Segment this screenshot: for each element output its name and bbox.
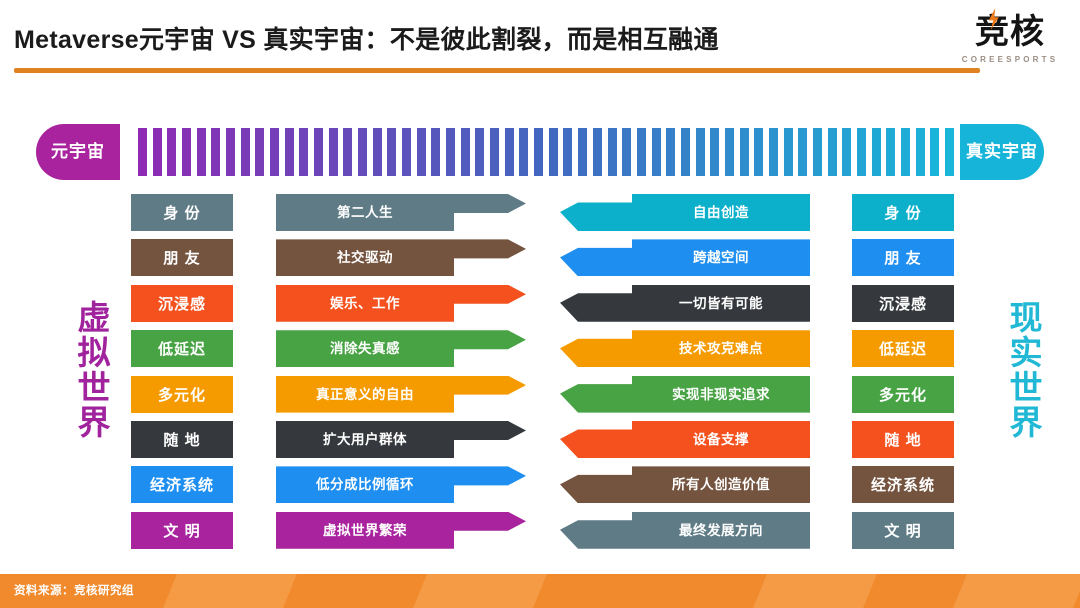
right-arrow-label: 一切皆有可能 (632, 285, 810, 322)
right-arrow-label: 最终发展方向 (632, 512, 810, 549)
right-arrow-label: 跨越空间 (632, 239, 810, 276)
spectrum-stripe (255, 128, 270, 176)
spectrum-stripe (666, 128, 681, 176)
spectrum-stripe (652, 128, 667, 176)
spectrum-stripe (769, 128, 784, 176)
right-attribute-tag[interactable]: 低延迟 (852, 330, 954, 367)
stripe-fill (872, 128, 881, 176)
spectrum-stripe (138, 128, 153, 176)
left-attribute-tag[interactable]: 随 地 (131, 421, 233, 458)
row-arrows: 扩大用户群体设备支撑 (276, 421, 810, 458)
left-attribute-tag[interactable]: 多元化 (131, 376, 233, 413)
stripe-fill (754, 128, 763, 176)
stripe-fill (314, 128, 323, 176)
stripe-fill (608, 128, 617, 176)
spectrum-stripe (578, 128, 593, 176)
left-arrow[interactable]: 扩大用户群体 (276, 421, 526, 458)
stripe-fill (402, 128, 411, 176)
stripe-fill (182, 128, 191, 176)
comparison-row: 朋 友社交驱动跨越空间朋 友 (0, 239, 1080, 276)
stripe-fill (945, 128, 954, 176)
spectrum-stripe (431, 128, 446, 176)
stripe-fill (519, 128, 528, 176)
right-attribute-tag[interactable]: 经济系统 (852, 466, 954, 503)
left-arrow-label: 虚拟世界繁荣 (276, 512, 454, 549)
spectrum-stripe (930, 128, 945, 176)
stripe-fill (842, 128, 851, 176)
spectrum-stripe (285, 128, 300, 176)
right-attribute-label: 身 份 (884, 202, 921, 223)
stripe-fill (901, 128, 910, 176)
spectrum-stripe (637, 128, 652, 176)
left-arrow[interactable]: 社交驱动 (276, 239, 526, 276)
cap-line: 宇宙 (1002, 142, 1038, 162)
stripe-fill (622, 128, 631, 176)
left-arrow-label: 低分成比例循环 (276, 466, 454, 503)
stripe-fill (299, 128, 308, 176)
row-arrows: 社交驱动跨越空间 (276, 239, 810, 276)
stripe-fill (343, 128, 352, 176)
spectrum-stripe (373, 128, 388, 176)
right-attribute-label: 多元化 (879, 384, 927, 405)
right-arrow[interactable]: 自由创造 (560, 194, 810, 231)
logo-wordmark: 竞核 (954, 10, 1066, 54)
right-arrow-label: 设备支撑 (632, 421, 810, 458)
cap-line: 真实 (966, 142, 1002, 162)
right-attribute-label: 随 地 (884, 429, 921, 450)
left-attribute-tag[interactable]: 文 明 (131, 512, 233, 549)
stripe-fill (417, 128, 426, 176)
stripe-fill (431, 128, 440, 176)
spectrum-stripe (622, 128, 637, 176)
left-arrow[interactable]: 消除失真感 (276, 330, 526, 367)
spectrum-bar: 元宇宙 真实宇宙 (0, 124, 1080, 180)
row-arrows: 消除失真感技术攻克难点 (276, 330, 810, 367)
right-arrow[interactable]: 设备支撑 (560, 421, 810, 458)
spectrum-stripe (608, 128, 623, 176)
right-attribute-tag[interactable]: 随 地 (852, 421, 954, 458)
stripe-fill (549, 128, 558, 176)
comparison-row: 多元化真正意义的自由实现非现实追求多元化 (0, 376, 1080, 413)
spectrum-stripe (534, 128, 549, 176)
spectrum-stripe (505, 128, 520, 176)
left-attribute-tag[interactable]: 经济系统 (131, 466, 233, 503)
right-arrow[interactable]: 技术攻克难点 (560, 330, 810, 367)
right-arrow-label: 自由创造 (632, 194, 810, 231)
stripe-fill (886, 128, 895, 176)
spectrum-stripe (241, 128, 256, 176)
spectrum-stripe (343, 128, 358, 176)
spectrum-stripe (916, 128, 931, 176)
spectrum-stripe (519, 128, 534, 176)
right-arrow-label: 技术攻克难点 (632, 330, 810, 367)
right-attribute-tag[interactable]: 沉浸感 (852, 285, 954, 322)
spectrum-stripe (945, 128, 960, 176)
right-attribute-tag[interactable]: 朋 友 (852, 239, 954, 276)
spectrum-stripe (857, 128, 872, 176)
spectrum-stripe (182, 128, 197, 176)
left-arrow-label: 扩大用户群体 (276, 421, 454, 458)
stripe-fill (593, 128, 602, 176)
row-arrows: 第二人生自由创造 (276, 194, 810, 231)
spectrum-stripe (725, 128, 740, 176)
stripe-fill (637, 128, 646, 176)
spectrum-stripe (681, 128, 696, 176)
spectrum-stripe (197, 128, 212, 176)
spectrum-stripe (593, 128, 608, 176)
footer-source-note: 资料来源：竞核研究组 (14, 574, 134, 608)
brand-logo: 竞核 COREESPORTS (954, 8, 1066, 74)
comparison-row: 沉浸感娱乐、工作一切皆有可能沉浸感 (0, 285, 1080, 322)
left-arrow-label: 娱乐、工作 (276, 285, 454, 322)
spectrum-stripe (549, 128, 564, 176)
spectrum-stripe (167, 128, 182, 176)
row-arrows: 娱乐、工作一切皆有可能 (276, 285, 810, 322)
comparison-row: 身 份第二人生自由创造身 份 (0, 194, 1080, 231)
spectrum-cap-real-universe: 真实宇宙 (960, 124, 1044, 180)
page-header: Metaverse元宇宙 VS 真实宇宙：不是彼此割裂，而是相互融通 竞核 CO… (0, 0, 1080, 80)
spectrum-stripe (299, 128, 314, 176)
left-arrow-label: 第二人生 (276, 194, 454, 231)
stripe-fill (666, 128, 675, 176)
stripe-fill (710, 128, 719, 176)
spectrum-stripe (387, 128, 402, 176)
stripe-fill (813, 128, 822, 176)
spectrum-stripe (828, 128, 843, 176)
stripe-fill (828, 128, 837, 176)
stripe-fill (255, 128, 264, 176)
right-attribute-label: 朋 友 (884, 247, 921, 268)
left-attribute-label: 随 地 (163, 429, 200, 450)
right-arrow[interactable]: 最终发展方向 (560, 512, 810, 549)
left-attribute-label: 经济系统 (150, 474, 214, 495)
left-attribute-tag[interactable]: 沉浸感 (131, 285, 233, 322)
right-attribute-label: 经济系统 (871, 474, 935, 495)
spectrum-stripe (872, 128, 887, 176)
footer-diagonal-band (159, 574, 301, 608)
footer-diagonal-band (409, 574, 551, 608)
spectrum-stripe (710, 128, 725, 176)
stripe-fill (226, 128, 235, 176)
stripe-fill (241, 128, 250, 176)
stripe-fill (563, 128, 572, 176)
row-arrows: 低分成比例循环所有人创造价值 (276, 466, 810, 503)
comparison-row: 经济系统低分成比例循环所有人创造价值经济系统 (0, 466, 1080, 503)
row-arrows: 真正意义的自由实现非现实追求 (276, 376, 810, 413)
page-footer: 资料来源：竞核研究组 (0, 574, 1080, 608)
spectrum-stripe (153, 128, 168, 176)
right-arrow[interactable]: 一切皆有可能 (560, 285, 810, 322)
right-attribute-tag[interactable]: 身 份 (852, 194, 954, 231)
spectrum-stripes (138, 128, 960, 176)
stripe-fill (534, 128, 543, 176)
stripe-fill (138, 128, 147, 176)
footer-diagonal-band (949, 574, 1080, 608)
right-arrow[interactable]: 所有人创造价值 (560, 466, 810, 503)
stripe-fill (769, 128, 778, 176)
right-arrow-label: 实现非现实追求 (632, 376, 810, 413)
spectrum-stripe (211, 128, 226, 176)
stripe-fill (578, 128, 587, 176)
stripe-fill (505, 128, 514, 176)
stripe-fill (475, 128, 484, 176)
spectrum-stripe (798, 128, 813, 176)
row-arrows: 虚拟世界繁荣最终发展方向 (276, 512, 810, 549)
stripe-fill (270, 128, 279, 176)
stripe-fill (387, 128, 396, 176)
stripe-fill (784, 128, 793, 176)
spectrum-stripe (270, 128, 285, 176)
spectrum-stripe (314, 128, 329, 176)
stripe-fill (167, 128, 176, 176)
left-arrow[interactable]: 娱乐、工作 (276, 285, 526, 322)
spectrum-stripe (696, 128, 711, 176)
left-arrow-label: 真正意义的自由 (276, 376, 454, 413)
stripe-fill (461, 128, 470, 176)
spectrum-stripe (563, 128, 578, 176)
stripe-fill (358, 128, 367, 176)
spectrum-stripe (901, 128, 916, 176)
spectrum-stripe (740, 128, 755, 176)
spectrum-stripe (886, 128, 901, 176)
comparison-rows: 身 份第二人生自由创造身 份朋 友社交驱动跨越空间朋 友沉浸感娱乐、工作一切皆有… (0, 194, 1080, 546)
stripe-fill (153, 128, 162, 176)
stripe-fill (916, 128, 925, 176)
left-arrow[interactable]: 低分成比例循环 (276, 466, 526, 503)
left-arrow[interactable]: 真正意义的自由 (276, 376, 526, 413)
left-attribute-label: 多元化 (158, 384, 206, 405)
header-divider (14, 68, 980, 73)
spectrum-stripe (842, 128, 857, 176)
right-arrow[interactable]: 跨越空间 (560, 239, 810, 276)
stripe-fill (740, 128, 749, 176)
left-attribute-label: 低延迟 (158, 338, 206, 359)
spectrum-stripe (475, 128, 490, 176)
spectrum-stripe (402, 128, 417, 176)
stripe-fill (285, 128, 294, 176)
left-attribute-label: 身 份 (163, 202, 200, 223)
stripe-fill (490, 128, 499, 176)
spectrum-stripe (754, 128, 769, 176)
stripe-fill (197, 128, 206, 176)
spectrum-stripe (784, 128, 799, 176)
spectrum-stripe (461, 128, 476, 176)
right-attribute-label: 低延迟 (879, 338, 927, 359)
stripe-fill (373, 128, 382, 176)
stripe-fill (857, 128, 866, 176)
right-attribute-label: 沉浸感 (879, 293, 927, 314)
right-attribute-label: 文 明 (884, 520, 921, 541)
stripe-fill (329, 128, 338, 176)
left-arrow-label: 社交驱动 (276, 239, 454, 276)
stripe-fill (652, 128, 661, 176)
spectrum-cap-metaverse: 元宇宙 (36, 124, 120, 180)
right-arrow[interactable]: 实现非现实追求 (560, 376, 810, 413)
stripe-fill (696, 128, 705, 176)
spectrum-stripe (226, 128, 241, 176)
right-attribute-tag[interactable]: 多元化 (852, 376, 954, 413)
stripe-fill (930, 128, 939, 176)
left-attribute-tag[interactable]: 身 份 (131, 194, 233, 231)
left-attribute-label: 沉浸感 (158, 293, 206, 314)
right-arrow-label: 所有人创造价值 (632, 466, 810, 503)
spectrum-stripe (490, 128, 505, 176)
footer-diagonal-band (749, 574, 881, 608)
left-arrow[interactable]: 第二人生 (276, 194, 526, 231)
spectrum-stripe (417, 128, 432, 176)
left-arrow[interactable]: 虚拟世界繁荣 (276, 512, 526, 549)
left-arrow-label: 消除失真感 (276, 330, 454, 367)
left-attribute-tag[interactable]: 低延迟 (131, 330, 233, 367)
stripe-fill (211, 128, 220, 176)
stripe-fill (725, 128, 734, 176)
page-title: Metaverse元宇宙 VS 真实宇宙：不是彼此割裂，而是相互融通 (14, 20, 719, 56)
stripe-fill (798, 128, 807, 176)
left-attribute-tag[interactable]: 朋 友 (131, 239, 233, 276)
logo-subtitle: COREESPORTS (954, 55, 1066, 64)
spectrum-stripe (446, 128, 461, 176)
right-attribute-tag[interactable]: 文 明 (852, 512, 954, 549)
left-attribute-label: 朋 友 (163, 247, 200, 268)
stripe-fill (446, 128, 455, 176)
spectrum-stripe (358, 128, 373, 176)
comparison-row: 低延迟消除失真感技术攻克难点低延迟 (0, 330, 1080, 367)
comparison-row: 随 地扩大用户群体设备支撑随 地 (0, 421, 1080, 458)
spectrum-stripe (813, 128, 828, 176)
comparison-row: 文 明虚拟世界繁荣最终发展方向文 明 (0, 512, 1080, 549)
spectrum-stripe (329, 128, 344, 176)
left-attribute-label: 文 明 (163, 520, 200, 541)
stripe-fill (681, 128, 690, 176)
